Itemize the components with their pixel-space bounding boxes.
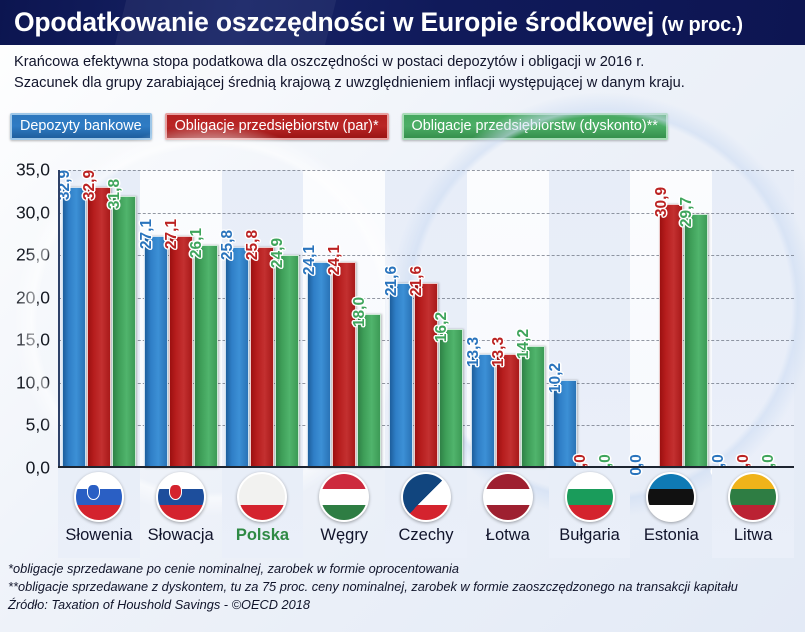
bar-slot: 0,0 [741,170,765,468]
bar-group: 25,825,824,9 [222,170,304,468]
bar-group: 27,127,126,1 [140,170,222,468]
legend-item-bonds-discount[interactable]: Obligacje przedsiębiorstw (dyskonto)** [402,113,668,140]
x-axis-cell: Słowacja [140,468,222,558]
bar-value-label: 13,3 [490,337,508,367]
x-axis-cell: Litwa [712,468,794,558]
y-tick-label: 0,0 [26,458,50,479]
country-label-czechy: Czechy [399,526,454,545]
footnote-1: *obligacje sprzedawane po cenie nominaln… [8,560,803,578]
country-label-litwa: Litwa [734,526,773,545]
bar-slot: 29,7 [684,170,708,468]
legend-item-deposits[interactable]: Depozyty bankowe [10,113,152,140]
country-label-łotwa: Łotwa [486,526,530,545]
bar-value-label: 24,9 [269,238,287,268]
subtitle-line-1: Krańcowa efektywna stopa podatkowa dla o… [14,52,791,73]
bar-green[interactable]: 29,7 [684,214,708,468]
country-label-polska: Polska [236,526,289,545]
bar-value-label: 32,9 [81,170,99,200]
bar-value-label: 13,3 [465,337,483,367]
title-suffix: (w proc.) [661,14,743,36]
y-tick-label: 10,0 [16,372,50,393]
y-axis-line [58,170,60,468]
bar-slot: 14,2 [521,170,545,468]
plot-area: 32,932,931,827,127,126,125,825,824,924,1… [58,170,794,468]
bar-group: 0,00,00,0 [712,170,794,468]
y-tick-label: 15,0 [16,330,50,351]
flag-icon-słowenia [74,472,124,522]
flag-stripe [321,505,367,520]
flag-stripe [730,474,776,489]
y-tick-label: 20,0 [16,287,50,308]
flag-stripe [321,489,367,504]
x-axis-cell: Polska [222,468,304,558]
bar-slot: 25,8 [225,170,249,468]
bar-blue[interactable]: 25,8 [225,247,249,468]
legend-item-bonds-par[interactable]: Obligacje przedsiębiorstw (par)* [165,113,389,140]
infographic-root: Opodatkowanie oszczędności w Europie śro… [0,0,805,632]
bar-slot: 0,0 [578,170,602,468]
bar-slot: 10,2 [553,170,577,468]
bar-red[interactable]: 30,9 [659,204,683,468]
flag-stripe [648,489,694,504]
bar-group: 13,313,314,2 [467,170,549,468]
bar-slot: 13,3 [471,170,495,468]
subtitle-block: Krańcowa efektywna stopa podatkowa dla o… [0,45,805,105]
footnotes: *obligacje sprzedawane po cenie nominaln… [8,560,803,614]
bar-value-label: 25,8 [219,230,237,260]
bar-slot: 24,1 [307,170,331,468]
country-label-słowenia: Słowenia [65,526,132,545]
bar-slot: 27,1 [144,170,168,468]
bar-slot: 26,1 [194,170,218,468]
flag-icon-słowacja [156,472,206,522]
bar-value-label: 25,8 [244,230,262,260]
bar-slot: 25,8 [250,170,274,468]
flag-stripe [321,474,367,489]
bar-group: 21,621,616,2 [385,170,467,468]
bar-slot: 32,9 [87,170,111,468]
bar-slot: 24,9 [275,170,299,468]
x-axis-cell: Czechy [385,468,467,558]
chart-legend: Depozyty bankowe Obligacje przedsiębiors… [10,113,668,140]
bar-red[interactable]: 24,1 [332,262,356,468]
flag-stripe [730,489,776,504]
country-label-węgry: Węgry [320,526,368,545]
bar-group: 24,124,118,0 [303,170,385,468]
bar-slot: 0,0 [603,170,627,468]
bar-slot: 0,0 [716,170,740,468]
title-bar: Opodatkowanie oszczędności w Europie śro… [0,0,805,45]
flag-stripe [485,492,531,501]
y-tick-label: 30,0 [16,202,50,223]
bar-green[interactable]: 14,2 [521,346,545,468]
flag-stripe [648,474,694,489]
bar-green[interactable]: 31,8 [112,196,136,468]
bar-value-label: 18,0 [351,297,369,327]
flag-emblem [169,484,182,500]
bar-blue[interactable]: 27,1 [144,236,168,468]
x-axis-cell: Estonia [630,468,712,558]
flag-stripe [485,474,531,489]
bar-blue[interactable]: 21,6 [389,283,413,468]
page-title: Opodatkowanie oszczędności w Europie śro… [0,7,743,38]
subtitle-line-2: Szacunek dla grupy zarabiającej średnią … [14,73,791,94]
bar-blue[interactable]: 32,9 [62,187,86,468]
bar-green[interactable]: 18,0 [357,314,381,468]
bar-value-label: 21,6 [383,266,401,296]
bar-group: 0,030,929,7 [630,170,712,468]
x-axis-cell: Słowenia [58,468,140,558]
flag-icon-polska [237,472,287,522]
bar-slot: 27,1 [169,170,193,468]
flag-icon-łotwa [483,472,533,522]
flag-emblem [87,484,100,500]
bar-group: 32,932,931,8 [58,170,140,468]
bar-value-label: 21,6 [408,266,426,296]
bar-value-label: 27,1 [138,219,156,249]
y-tick-label: 35,0 [16,160,50,181]
bar-slot: 18,0 [357,170,381,468]
country-label-słowacja: Słowacja [148,526,214,545]
flag-stripe [76,505,122,520]
flag-stripe [239,489,285,504]
x-axis-countries: SłoweniaSłowacjaPolskaWęgryCzechyŁotwaBu… [58,468,794,558]
flag-stripe [239,505,285,520]
x-axis-cell: Bułgaria [549,468,631,558]
bar-value-label: 31,8 [106,179,124,209]
flag-icon-bułgaria [565,472,615,522]
bar-slot: 13,3 [496,170,520,468]
bar-blue[interactable]: 13,3 [471,354,495,468]
bar-red[interactable]: 25,8 [250,247,274,468]
bar-value-label: 16,2 [433,312,451,342]
flag-stripe [567,474,613,489]
country-label-estonia: Estonia [644,526,699,545]
footnote-2: **obligacje sprzedawane z dyskontem, tu … [8,578,803,596]
source-line: Źródło: Taxation of Houshold Savings - ©… [8,596,803,614]
bar-slot: 16,2 [439,170,463,468]
bar-blue[interactable]: 24,1 [307,262,331,468]
country-label-bułgaria: Bułgaria [559,526,620,545]
bar-value-label: 24,1 [326,245,344,275]
bar-slot: 21,6 [389,170,413,468]
flag-icon-litwa [728,472,778,522]
x-axis-cell: Węgry [303,468,385,558]
flag-icon-czechy [401,472,451,522]
flag-icon-estonia [646,472,696,522]
y-tick-label: 5,0 [26,415,50,436]
bar-red[interactable]: 21,6 [414,283,438,468]
flag-stripe [158,505,204,520]
bar-value-label: 24,1 [301,245,319,275]
bar-red[interactable]: 27,1 [169,236,193,468]
flag-stripe [567,489,613,504]
flag-stripe [239,474,285,489]
bar-value-label: 27,1 [163,219,181,249]
bar-value-label: 10,2 [547,363,565,393]
bar-red[interactable]: 13,3 [496,354,520,468]
flag-triangle [403,474,449,520]
bar-value-label: 30,9 [653,187,671,217]
bar-value-label: 14,2 [515,329,533,359]
bar-red[interactable]: 32,9 [87,187,111,468]
bar-slot: 32,9 [62,170,86,468]
bar-green[interactable]: 24,9 [275,255,299,468]
bar-value-label: 29,7 [678,197,696,227]
bar-group: 10,20,00,0 [549,170,631,468]
bar-slot: 31,8 [112,170,136,468]
title-main: Opodatkowanie oszczędności w Europie śro… [14,7,654,37]
bar-slot: 0,0 [766,170,790,468]
flag-stripe [730,505,776,520]
y-axis-labels: 0,05,010,015,020,025,030,035,0 [0,170,56,468]
flag-stripe [485,505,531,520]
flag-icon-węgry [319,472,369,522]
flag-stripe [567,505,613,520]
flag-stripe [648,505,694,520]
bar-green[interactable]: 26,1 [194,245,218,468]
bar-groups: 32,932,931,827,127,126,125,825,824,924,1… [58,170,794,468]
bar-green[interactable]: 16,2 [439,329,463,468]
bar-value-label: 26,1 [188,228,206,258]
x-axis-cell: Łotwa [467,468,549,558]
y-tick-label: 25,0 [16,245,50,266]
